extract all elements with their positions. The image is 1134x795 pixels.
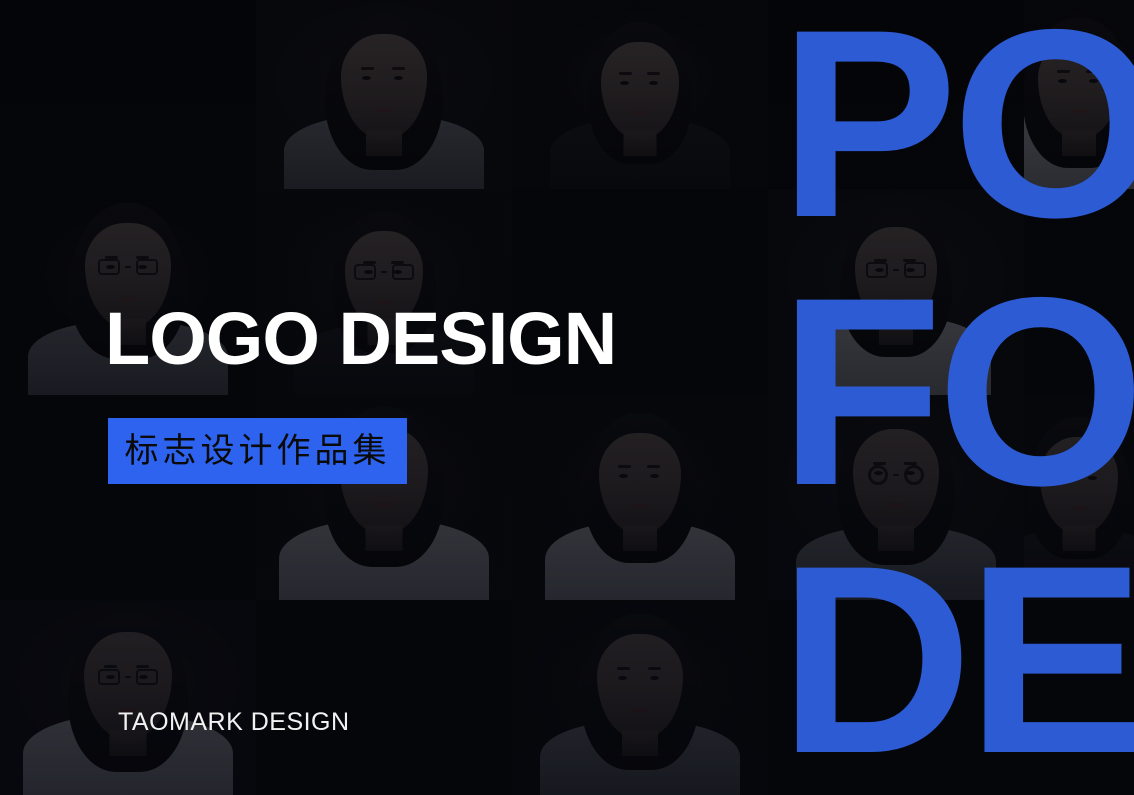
poster-canvas: PO FO DE LOGO DESIGN 标志设计作品集 TAOMARK DES… <box>0 0 1134 795</box>
subtitle-label: 标志设计作品集 <box>125 434 391 468</box>
tile-r4c2 <box>256 600 512 795</box>
portrait-mouth <box>633 504 648 508</box>
portrait-brow-right <box>1086 70 1099 73</box>
portrait-brow-right <box>1086 467 1099 470</box>
tile-r4c4 <box>768 600 1024 795</box>
portrait-eye-left <box>618 676 627 680</box>
portrait-brow-right <box>136 665 149 668</box>
portrait-mouth <box>377 108 392 112</box>
tile-r1c2 <box>256 0 512 189</box>
tile-r2c4 <box>768 189 1024 395</box>
glasses-icon <box>354 264 414 280</box>
portrait-eye-left <box>1058 79 1067 83</box>
tile-r1c3 <box>512 0 768 189</box>
portrait-brow-left <box>617 667 630 670</box>
portrait-mouth <box>1072 109 1087 113</box>
glasses-icon <box>868 465 924 485</box>
portrait-mouth <box>889 298 904 302</box>
portrait-eye-right <box>1088 476 1097 480</box>
portrait-brow-right <box>647 72 660 75</box>
tile-r4c3 <box>512 600 768 795</box>
portrait-eye-left <box>1059 476 1068 480</box>
portrait-eye-right <box>650 676 659 680</box>
portrait-person-dark-coat <box>1024 395 1134 600</box>
portrait-eye-left <box>619 474 628 478</box>
portrait-eye-right <box>649 81 658 85</box>
portrait-person-round-glasses <box>768 395 1024 600</box>
portrait-woman-side-profile <box>1024 0 1134 189</box>
portrait-brow-left <box>1057 70 1070 73</box>
subtitle-badge: 标志设计作品集 <box>108 418 407 484</box>
tile-r3c5 <box>1024 395 1134 600</box>
portrait-brow-left <box>361 67 374 70</box>
portrait-man-glasses-shirt <box>768 189 1024 395</box>
portrait-mouth <box>889 503 904 507</box>
portrait-brow-left <box>1058 467 1071 470</box>
portrait-woman-glasses-smiling <box>0 600 256 795</box>
portrait-eye-left <box>620 81 629 85</box>
portrait-eye-right <box>1089 79 1098 83</box>
portrait-brow-right <box>647 465 660 468</box>
portrait-brow-right <box>648 667 661 670</box>
tile-r3c4 <box>768 395 1024 600</box>
tile-r1c1 <box>0 0 256 189</box>
glasses-icon <box>98 259 158 275</box>
portrait-woman-smiling-dark-hair <box>512 0 768 189</box>
glasses-icon <box>866 262 926 278</box>
tile-r1c4 <box>768 0 1024 189</box>
brand-label: TAOMARK DESIGN <box>118 708 350 737</box>
photo-mosaic-grid <box>0 0 1134 795</box>
portrait-woman-long-hair-white-shirt <box>256 0 512 189</box>
portrait-mouth <box>377 503 392 507</box>
tile-r4c1 <box>0 600 256 795</box>
portrait-mouth <box>1072 506 1087 510</box>
portrait-eye-right <box>650 474 659 478</box>
portrait-eye-left <box>362 76 371 80</box>
glasses-icon <box>98 669 158 685</box>
portrait-brow-left <box>104 665 117 668</box>
tile-r2c5 <box>1024 189 1134 395</box>
portrait-woman-long-hair-portrait <box>512 600 768 795</box>
portrait-brow-left <box>618 465 631 468</box>
tile-r4c5 <box>1024 600 1134 795</box>
portrait-eye-right <box>394 76 403 80</box>
page-title: LOGO DESIGN <box>105 302 616 376</box>
portrait-brow-right <box>392 67 405 70</box>
portrait-brow-left <box>619 72 632 75</box>
portrait-woman-light-blouse <box>512 395 768 600</box>
tile-r1c5 <box>1024 0 1134 189</box>
tile-r3c3 <box>512 395 768 600</box>
portrait-mouth <box>633 111 648 115</box>
portrait-mouth <box>633 708 648 712</box>
